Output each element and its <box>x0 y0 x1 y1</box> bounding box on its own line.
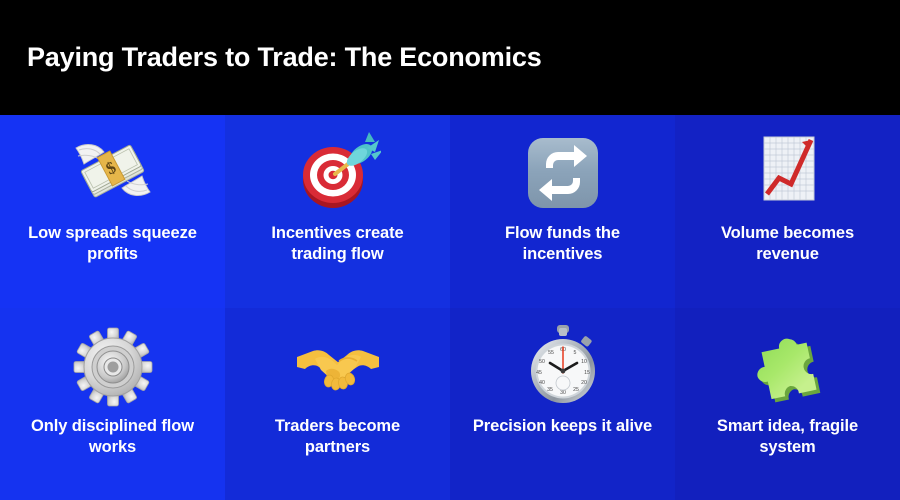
puzzle-piece-icon <box>744 322 832 410</box>
money-with-wings-icon: $ <box>69 129 157 217</box>
stopwatch-icon: 60 5 10 15 20 25 30 35 40 45 50 55 <box>519 322 607 410</box>
svg-text:10: 10 <box>581 359 587 365</box>
svg-text:45: 45 <box>536 370 542 376</box>
svg-text:30: 30 <box>560 390 566 396</box>
svg-text:40: 40 <box>539 380 545 386</box>
grid-cell-label: Flow funds the incentives <box>458 223 668 265</box>
page-title: Paying Traders to Trade: The Economics <box>0 43 542 73</box>
handshake-icon <box>294 322 382 410</box>
grid-cell-flow-funds[interactable]: Flow funds the incentives <box>450 115 675 308</box>
grid-cell-incentives[interactable]: Incentives create trading flow <box>225 115 450 308</box>
svg-text:20: 20 <box>581 380 587 386</box>
grid-cell-label: Incentives create trading flow <box>233 223 443 265</box>
svg-text:50: 50 <box>539 359 545 365</box>
svg-text:25: 25 <box>573 387 579 393</box>
svg-text:35: 35 <box>547 387 553 393</box>
gear-icon <box>69 322 157 410</box>
concept-grid: $ Low spreads squeeze profits <box>0 115 900 500</box>
slide-header: Paying Traders to Trade: The Economics <box>0 0 900 115</box>
grid-cell-label: Only disciplined flow works <box>8 416 218 458</box>
chart-increasing-icon <box>744 129 832 217</box>
grid-cell-fragile-system[interactable]: Smart idea, fragile system <box>675 308 900 500</box>
grid-cell-traders-partners[interactable]: Traders become partners <box>225 308 450 500</box>
svg-text:55: 55 <box>548 350 554 356</box>
repeat-arrows-icon <box>519 129 607 217</box>
grid-cell-label: Volume becomes revenue <box>683 223 893 265</box>
svg-text:5: 5 <box>573 350 576 356</box>
grid-cell-precision[interactable]: 60 5 10 15 20 25 30 35 40 45 50 55 <box>450 308 675 500</box>
grid-cell-label: Traders become partners <box>233 416 443 458</box>
grid-cell-volume-revenue[interactable]: Volume becomes revenue <box>675 115 900 308</box>
bullseye-dart-icon <box>294 129 382 217</box>
grid-cell-label: Precision keeps it alive <box>463 416 662 437</box>
svg-text:15: 15 <box>584 370 590 376</box>
grid-cell-low-spreads[interactable]: $ Low spreads squeeze profits <box>0 115 225 308</box>
slide-root: Paying Traders to Trade: The Economics <box>0 0 900 500</box>
grid-cell-disciplined-flow[interactable]: Only disciplined flow works <box>0 308 225 500</box>
grid-cell-label: Smart idea, fragile system <box>683 416 893 458</box>
grid-cell-label: Low spreads squeeze profits <box>8 223 218 265</box>
